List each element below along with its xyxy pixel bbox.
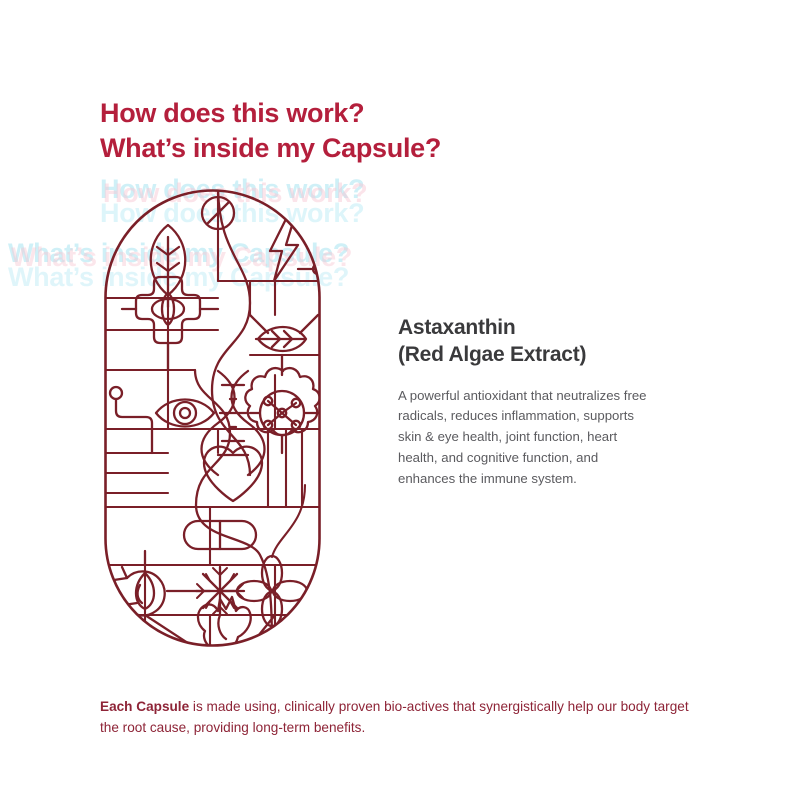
page-title-line-1: How does this work? <box>100 96 660 131</box>
footer-note: Each Capsule is made using, clinically p… <box>100 696 710 738</box>
ingredient-info: Astaxanthin (Red Algae Extract) A powerf… <box>398 314 650 490</box>
ingredient-title: Astaxanthin (Red Algae Extract) <box>398 314 650 369</box>
ingredient-title-line-2: (Red Algae Extract) <box>398 341 650 368</box>
page-title: How does this work? What’s inside my Cap… <box>100 96 660 165</box>
ingredient-title-line-1: Astaxanthin <box>398 314 650 341</box>
page-title-line-2: What’s inside my Capsule? <box>100 131 660 166</box>
ingredient-description: A powerful antioxidant that neutralizes … <box>398 386 650 490</box>
capsule-illustration <box>100 185 325 651</box>
page-root: How does this work? How does this work? … <box>0 0 800 800</box>
footer-rest: is made using, clinically proven bio-act… <box>100 699 689 735</box>
footer-lead: Each Capsule <box>100 699 189 714</box>
